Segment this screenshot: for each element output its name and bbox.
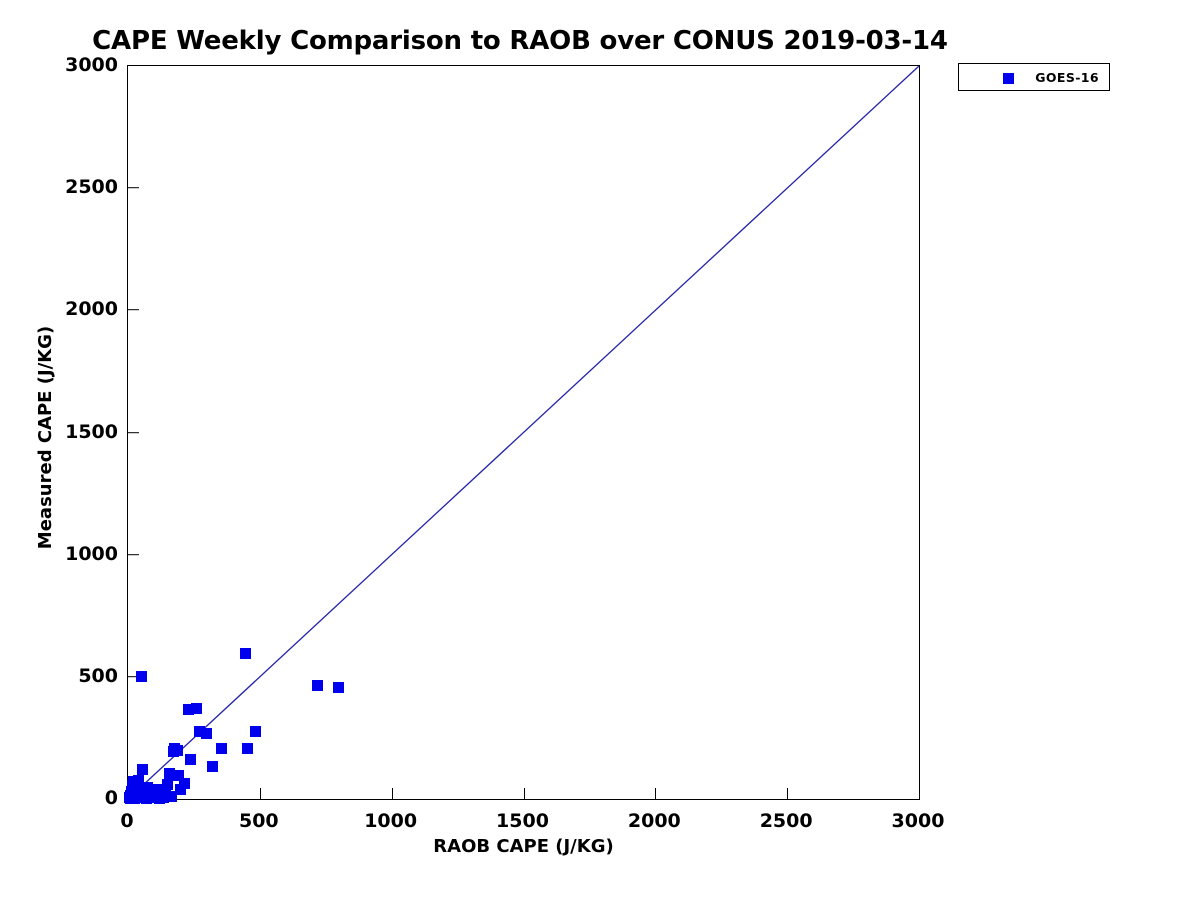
data-point-marker: [201, 728, 212, 739]
x-tick-mark: [787, 788, 788, 799]
x-tick-mark: [260, 788, 261, 799]
data-point-marker: [137, 764, 148, 775]
x-tick-mark: [524, 788, 525, 799]
y-tick-label: 1500: [58, 421, 118, 443]
data-point-marker: [242, 743, 253, 754]
y-tick-label: 2500: [58, 176, 118, 198]
data-point-marker: [207, 761, 218, 772]
data-point-marker: [312, 680, 323, 691]
y-tick-label: 1000: [58, 543, 118, 565]
y-tick-label: 3000: [58, 54, 118, 76]
data-point-marker: [250, 726, 261, 737]
data-point-marker: [216, 743, 227, 754]
data-point-marker: [333, 682, 344, 693]
one-to-one-reference-line: [128, 66, 919, 799]
y-tick-label: 500: [58, 665, 118, 687]
y-axis-title: Measured CAPE (J/KG): [35, 70, 56, 805]
x-tick-mark: [392, 788, 393, 799]
x-tick-label: 0: [67, 810, 187, 832]
legend-swatch-goes-16: [1003, 73, 1014, 84]
y-tick-label: 2000: [58, 298, 118, 320]
x-tick-label: 2500: [726, 810, 846, 832]
chart-title: CAPE Weekly Comparison to RAOB over CONU…: [0, 26, 1040, 56]
data-point-marker: [136, 671, 147, 682]
y-axis-tick-labels: 050010001500200025003000: [50, 65, 118, 800]
y-tick-mark: [128, 432, 139, 433]
y-tick-mark: [128, 310, 139, 311]
reference-line-layer: [128, 66, 919, 799]
data-point-marker: [240, 648, 251, 659]
y-tick-mark: [128, 554, 139, 555]
data-point-marker: [172, 745, 183, 756]
x-tick-label: 2000: [594, 810, 714, 832]
data-point-marker: [191, 703, 202, 714]
x-axis-title: RAOB CAPE (J/KG): [127, 836, 920, 857]
x-tick-mark: [655, 788, 656, 799]
data-point-marker: [162, 779, 173, 790]
x-tick-label: 1500: [463, 810, 583, 832]
x-tick-label: 3000: [858, 810, 978, 832]
y-tick-label: 0: [58, 787, 118, 809]
legend-label-goes-16: GOES-16: [1035, 70, 1099, 85]
plot-area: [127, 65, 920, 800]
x-tick-label: 1000: [331, 810, 451, 832]
x-tick-label: 500: [199, 810, 319, 832]
legend: GOES-16: [958, 63, 1110, 91]
data-point-marker: [185, 754, 196, 765]
data-point-marker: [179, 778, 190, 789]
scatter-chart: CAPE Weekly Comparison to RAOB over CONU…: [0, 0, 1200, 900]
y-tick-mark: [128, 187, 139, 188]
